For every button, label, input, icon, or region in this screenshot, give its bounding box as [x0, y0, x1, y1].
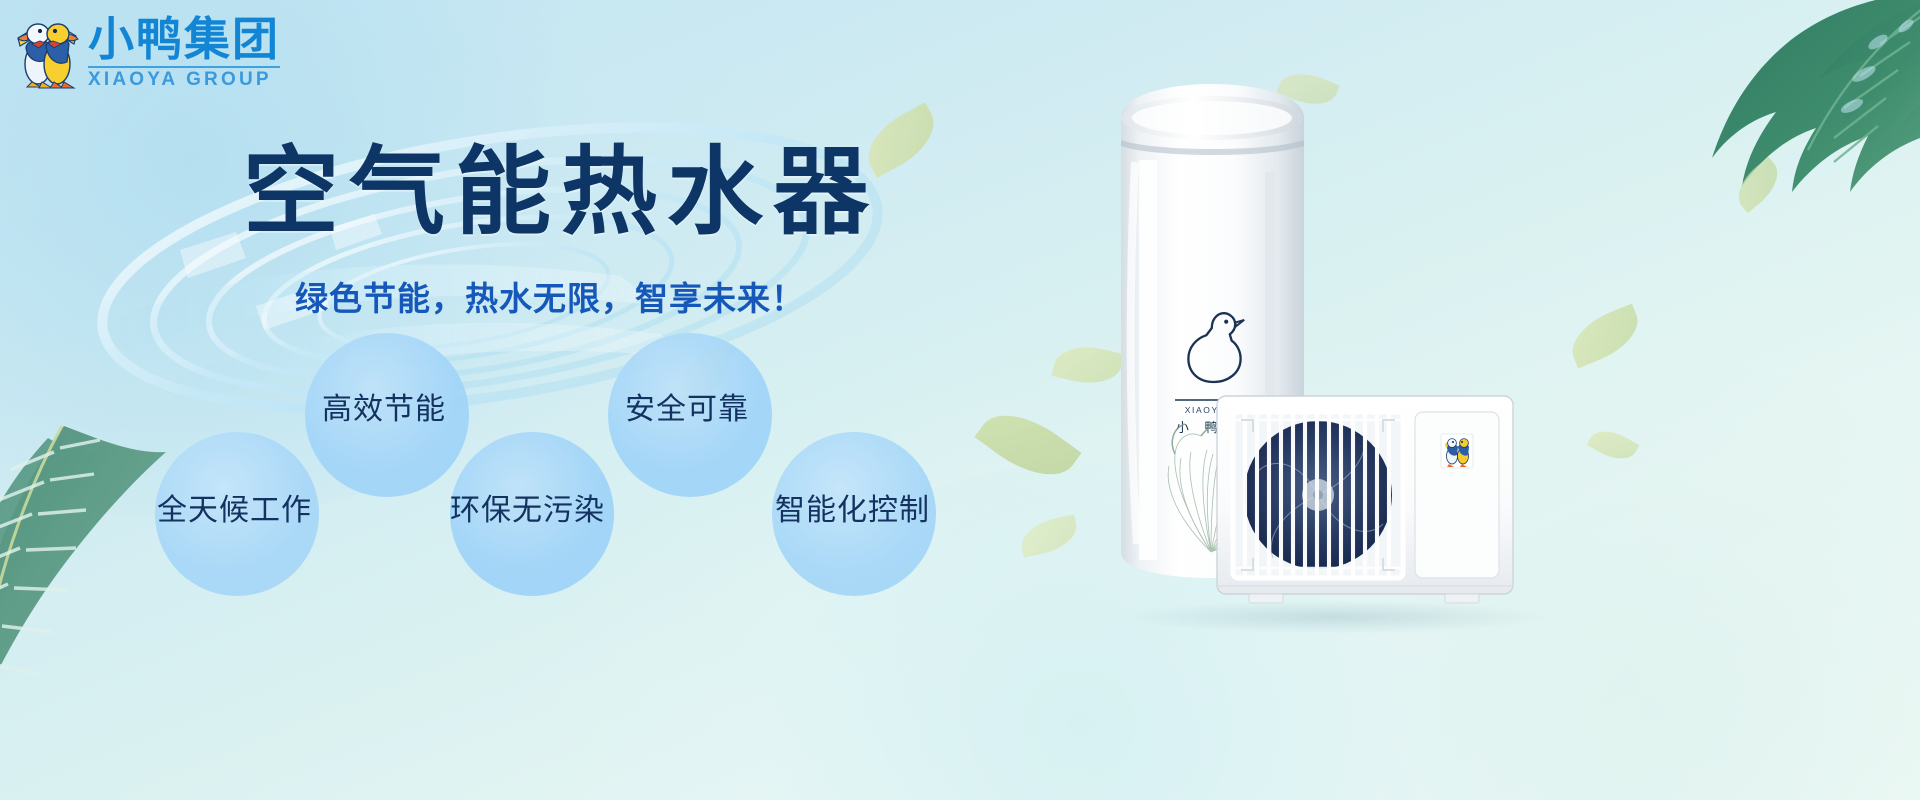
page-subtitle: 绿色节能，热水无限，智享未来！ [295, 278, 805, 320]
outdoor-heat-pump-unit [1215, 390, 1515, 615]
feature-label-high-efficiency: 高效节能 [322, 393, 446, 427]
page-title: 空气能热水器 [243, 138, 879, 248]
feature-label-smart-control: 智能化控制 [775, 494, 930, 528]
leaf-petal-icon [1728, 157, 1787, 213]
product-photo: XIAOYAPAI 小 鸭 牌 [1060, 60, 1700, 760]
logo-chinese-text: 小鸭集团 [88, 15, 280, 63]
feature-label-eco-friendly: 环保无污染 [450, 494, 605, 528]
feature-label-all-weather: 全天候工作 [157, 494, 312, 528]
feature-label-safe-reliable: 安全可靠 [625, 393, 749, 427]
duck-mascot-icon [14, 12, 80, 92]
logo-english-text: XIAOYA GROUP [88, 70, 280, 90]
banana-leaf-icon [0, 408, 194, 738]
logo-divider [88, 66, 280, 68]
promotional-banner: 小鸭集团 XIAOYA GROUP 空气能热水器 绿色节能，热水无限，智享未来！… [0, 0, 1920, 800]
brand-logo[interactable]: 小鸭集团 XIAOYA GROUP [14, 10, 280, 94]
duck-mascot-badge-icon [1441, 434, 1473, 468]
